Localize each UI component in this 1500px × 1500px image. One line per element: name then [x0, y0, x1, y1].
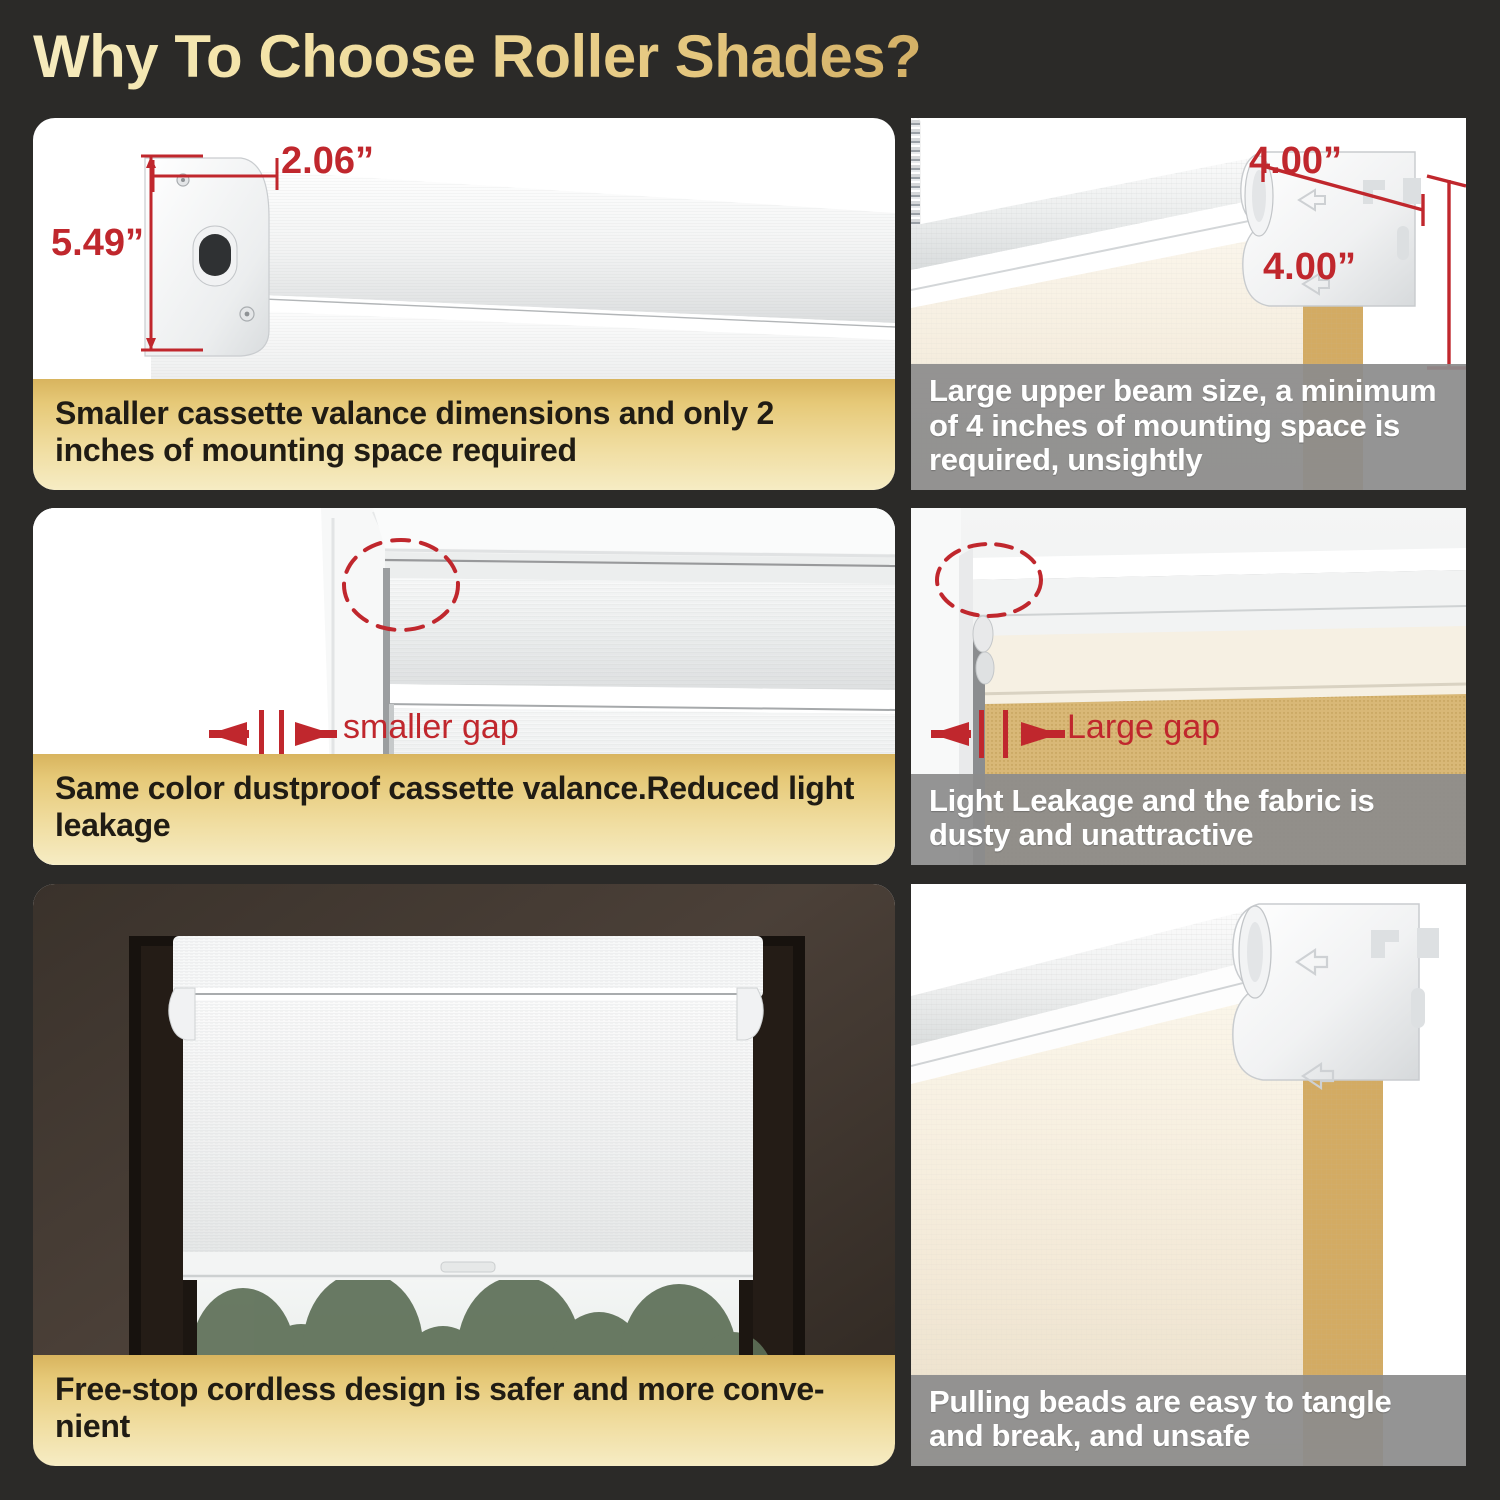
annotation-large-gap: Large gap	[1067, 708, 1220, 747]
caption-text: Same color dustproof cassette valance.Re…	[55, 770, 875, 843]
annotation-width-206: 2.06”	[281, 140, 374, 183]
panel-cassette-dimensions: 2.06” 5.49” Smaller cassette valance dim…	[33, 118, 895, 490]
panel-caption-upper-beam-size: Large upper beam size, a minimum of 4 in…	[911, 364, 1466, 490]
annotation-height-400: 4.00”	[1263, 246, 1356, 289]
panel-caption-pulling-beads: Pulling beads are easy to tangle and bre…	[911, 1375, 1466, 1466]
panel-upper-beam-size: 4.00” 4.00” Large upper beam size, a min…	[911, 118, 1466, 490]
caption-text: Smaller cassette valance dimensions and …	[55, 395, 875, 468]
panel-caption-light-leakage: Light Leakage and the fabric is dusty an…	[911, 774, 1466, 865]
annotation-smaller-gap: smaller gap	[343, 708, 519, 747]
caption-text: Light Leakage and the fabric is dusty an…	[929, 784, 1450, 853]
caption-text: Large upper beam size, a minimum of 4 in…	[929, 374, 1450, 478]
panel-caption-cassette-dimensions: Smaller cassette valance dimensions and …	[33, 379, 895, 490]
panel-dustproof-valance: smaller gap Same color dustproof cassett…	[33, 508, 895, 865]
panel-caption-cordless-design: Free-stop cordless design is safer and m…	[33, 1355, 895, 1466]
annotation-height-549: 5.49”	[51, 222, 144, 265]
page-title: Why To Choose Roller Shades?	[33, 18, 1233, 96]
caption-text: Free-stop cordless design is safer and m…	[55, 1371, 875, 1444]
highlight-circle-icon	[336, 530, 466, 640]
infographic-page: Why To Choose Roller Shades?	[0, 0, 1500, 1500]
panel-pulling-beads: Pulling beads are easy to tangle and bre…	[911, 884, 1466, 1466]
annotation-width-400: 4.00”	[1249, 140, 1342, 183]
caption-text: Pulling beads are easy to tangle and bre…	[929, 1385, 1450, 1454]
panel-caption-dustproof-valance: Same color dustproof cassette valance.Re…	[33, 754, 895, 865]
panel-light-leakage: Large gap Light Leakage and the fabric i…	[911, 508, 1466, 865]
panel-cordless-design: Free-stop cordless design is safer and m…	[33, 884, 895, 1466]
highlight-circle-icon	[927, 530, 1057, 630]
